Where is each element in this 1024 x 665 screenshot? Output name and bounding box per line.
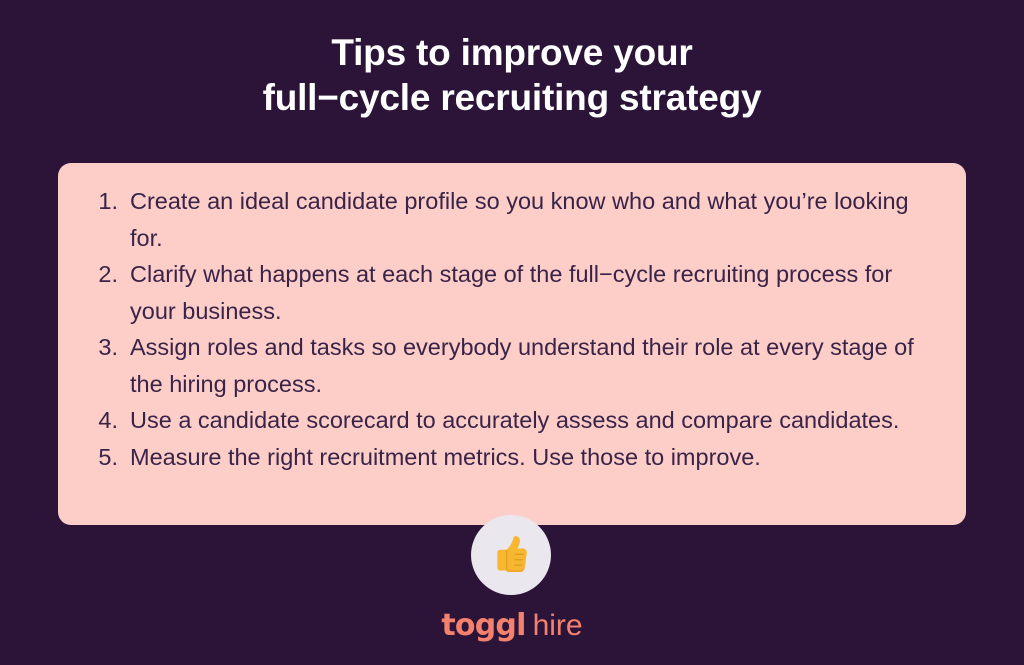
list-item-number: 5. bbox=[80, 439, 130, 476]
tips-card: 1. Create an ideal candidate profile so … bbox=[58, 163, 966, 525]
list-item-number: 2. bbox=[80, 256, 130, 293]
title-line-1: Tips to improve your bbox=[0, 30, 1024, 75]
list-item-number: 4. bbox=[80, 402, 130, 439]
list-item-number: 1. bbox=[80, 183, 130, 220]
tips-list: 1. Create an ideal candidate profile so … bbox=[80, 183, 940, 475]
toggl-hire-logo: togglhire bbox=[0, 608, 1024, 643]
list-item-text: Use a candidate scorecard to accurately … bbox=[130, 402, 940, 439]
list-item: 5. Measure the right recruitment metrics… bbox=[80, 439, 940, 476]
thumbs-up-icon bbox=[488, 531, 534, 577]
list-item: 4. Use a candidate scorecard to accurate… bbox=[80, 402, 940, 439]
list-item: 3. Assign roles and tasks so everybody u… bbox=[80, 329, 940, 402]
thumbs-up-badge bbox=[471, 515, 551, 595]
list-item-text: Create an ideal candidate profile so you… bbox=[130, 183, 940, 256]
poster-canvas: Tips to improve your full−cycle recruiti… bbox=[0, 0, 1024, 665]
title-line-2: full−cycle recruiting strategy bbox=[0, 75, 1024, 120]
list-item-number: 3. bbox=[80, 329, 130, 366]
list-item: 2. Clarify what happens at each stage of… bbox=[80, 256, 940, 329]
list-item-text: Measure the right recruitment metrics. U… bbox=[130, 439, 940, 476]
page-title: Tips to improve your full−cycle recruiti… bbox=[0, 30, 1024, 120]
list-item-text: Clarify what happens at each stage of th… bbox=[130, 256, 940, 329]
list-item: 1. Create an ideal candidate profile so … bbox=[80, 183, 940, 256]
logo-product-text: hire bbox=[533, 609, 583, 642]
list-item-text: Assign roles and tasks so everybody unde… bbox=[130, 329, 940, 402]
logo-brand-text: toggl bbox=[441, 608, 525, 643]
